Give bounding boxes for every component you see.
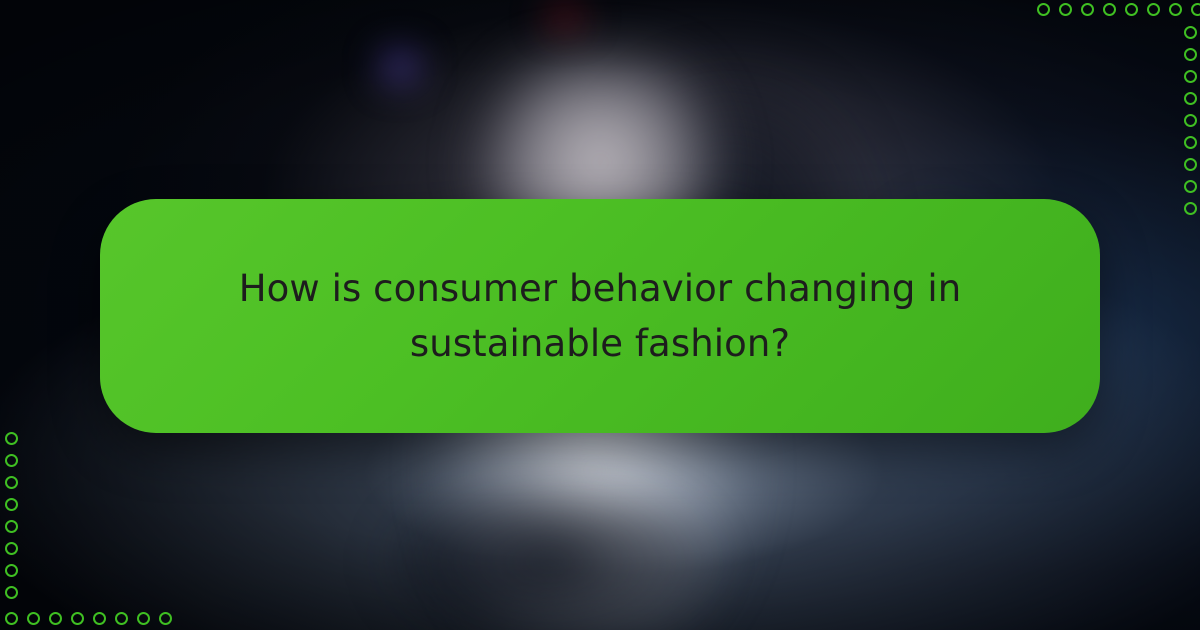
decor-dot — [1184, 158, 1197, 171]
poster-canvas: How is consumer behavior changing in sus… — [0, 0, 1200, 630]
dot-row-top-right — [1037, 3, 1200, 16]
decor-dot — [1184, 92, 1197, 105]
decor-dot — [1059, 3, 1072, 16]
decor-dot — [49, 612, 62, 625]
background-violet-light — [368, 38, 432, 94]
decor-dot — [1184, 70, 1197, 83]
decor-dot — [1184, 202, 1197, 215]
decor-dot — [5, 498, 18, 511]
decor-dot — [5, 432, 18, 445]
background-red-light — [534, 0, 596, 34]
decor-dot — [137, 612, 150, 625]
decor-dot — [71, 612, 84, 625]
decor-dot — [1169, 3, 1182, 16]
decor-dot — [1184, 26, 1197, 39]
decor-dot — [115, 612, 128, 625]
decor-dot — [1147, 3, 1160, 16]
decor-dot — [1037, 3, 1050, 16]
decor-dot — [5, 454, 18, 467]
decor-dot — [27, 612, 40, 625]
decor-dot — [1125, 3, 1138, 16]
decor-dot — [1103, 3, 1116, 16]
decor-dot — [1184, 180, 1197, 193]
decor-dot — [1191, 3, 1200, 16]
decor-dot — [5, 564, 18, 577]
decor-dot — [1184, 114, 1197, 127]
decor-dot — [5, 542, 18, 555]
decor-dot — [1184, 48, 1197, 61]
decor-dot — [5, 586, 18, 599]
question-card: How is consumer behavior changing in sus… — [100, 199, 1100, 433]
question-text: How is consumer behavior changing in sus… — [220, 261, 980, 372]
dot-column-left — [5, 432, 18, 599]
dot-column-right — [1184, 26, 1197, 215]
decor-dot — [5, 476, 18, 489]
decor-dot — [93, 612, 106, 625]
background-bottom-shadow — [360, 430, 780, 630]
decor-dot — [5, 520, 18, 533]
decor-dot — [1184, 136, 1197, 149]
decor-dot — [5, 612, 18, 625]
decor-dot — [1081, 3, 1094, 16]
dot-row-bottom-left — [5, 612, 172, 625]
decor-dot — [159, 612, 172, 625]
